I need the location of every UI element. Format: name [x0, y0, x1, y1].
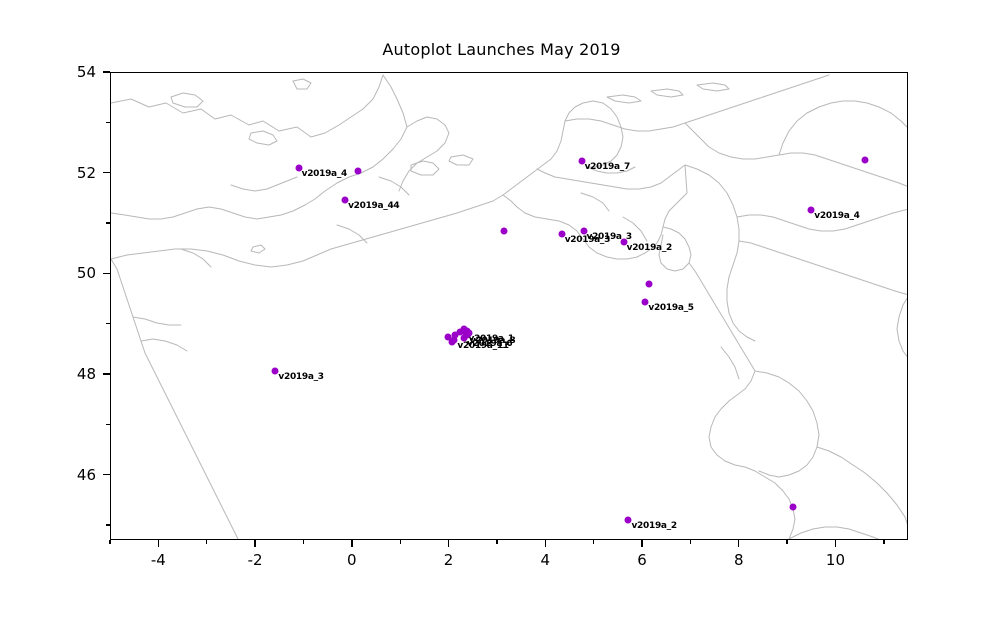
data-point-marker[interactable]	[789, 503, 796, 510]
y-axis-tick	[103, 373, 110, 374]
basemap-coastlines	[111, 73, 908, 540]
x-axis-tick-label: 8	[734, 551, 744, 569]
x-axis-tick	[351, 540, 352, 547]
data-point-marker[interactable]	[861, 157, 868, 164]
data-point-label: v2019a_2	[631, 521, 676, 531]
data-point-marker[interactable]	[354, 168, 361, 175]
x-axis-tick-label: -2	[248, 551, 263, 569]
x-axis-tick	[738, 540, 739, 547]
y-axis-minor-tick	[106, 122, 110, 123]
y-axis-tick	[103, 273, 110, 274]
x-axis-tick-label: 4	[540, 551, 550, 569]
map-axes[interactable]: v2019a_4v2019a_44v2019a_3v2019a_7v2019a_…	[110, 72, 908, 540]
x-axis-minor-tick	[400, 540, 401, 544]
y-axis-tick	[103, 474, 110, 475]
y-axis-tick-label: 52	[58, 164, 96, 182]
x-axis-tick-label: 10	[826, 551, 845, 569]
x-axis-minor-tick	[109, 540, 110, 544]
y-axis-minor-tick	[106, 424, 110, 425]
data-point-label: v2019a_3	[278, 372, 323, 382]
y-axis-tick-label: 48	[58, 365, 96, 383]
x-axis-tick-label: 2	[444, 551, 454, 569]
y-axis-tick	[103, 172, 110, 173]
x-axis-minor-tick	[206, 540, 207, 544]
y-axis-tick	[103, 71, 110, 72]
x-axis-minor-tick	[593, 540, 594, 544]
y-axis-minor-tick	[106, 323, 110, 324]
data-point-label: v2019a_7	[585, 162, 630, 172]
y-axis-minor-tick	[106, 524, 110, 525]
data-point-label: v2019a_4	[814, 211, 859, 221]
data-point-marker[interactable]	[645, 280, 652, 287]
x-axis-tick-label: 6	[637, 551, 647, 569]
x-axis-tick	[641, 540, 642, 547]
x-axis-tick	[158, 540, 159, 547]
chart-title: Autoplot Launches May 2019	[0, 40, 1003, 59]
data-point-label: v2019a_44	[348, 201, 399, 211]
x-axis-minor-tick	[883, 540, 884, 544]
x-axis-tick	[545, 540, 546, 547]
x-axis-tick-label: 0	[347, 551, 357, 569]
figure-canvas: Autoplot Launches May 2019	[0, 0, 1003, 633]
data-point-label: v2019a_5	[648, 303, 693, 313]
x-axis-tick	[254, 540, 255, 547]
x-axis-tick-label: -4	[151, 551, 166, 569]
x-axis-minor-tick	[690, 540, 691, 544]
y-axis-minor-tick	[106, 222, 110, 223]
data-point-marker[interactable]	[501, 227, 508, 234]
x-axis-tick	[835, 540, 836, 547]
x-axis-minor-tick	[786, 540, 787, 544]
x-axis-minor-tick	[303, 540, 304, 544]
x-axis-minor-tick	[496, 540, 497, 544]
y-axis-tick-label: 50	[58, 264, 96, 282]
y-axis-tick-label: 54	[58, 63, 96, 81]
data-point-label: v2019a_11	[457, 341, 508, 351]
y-axis-tick-label: 46	[58, 466, 96, 484]
x-axis-tick	[448, 540, 449, 547]
data-point-label: v2019a_2	[627, 243, 672, 253]
data-point-label: v2019a_4	[302, 169, 347, 179]
